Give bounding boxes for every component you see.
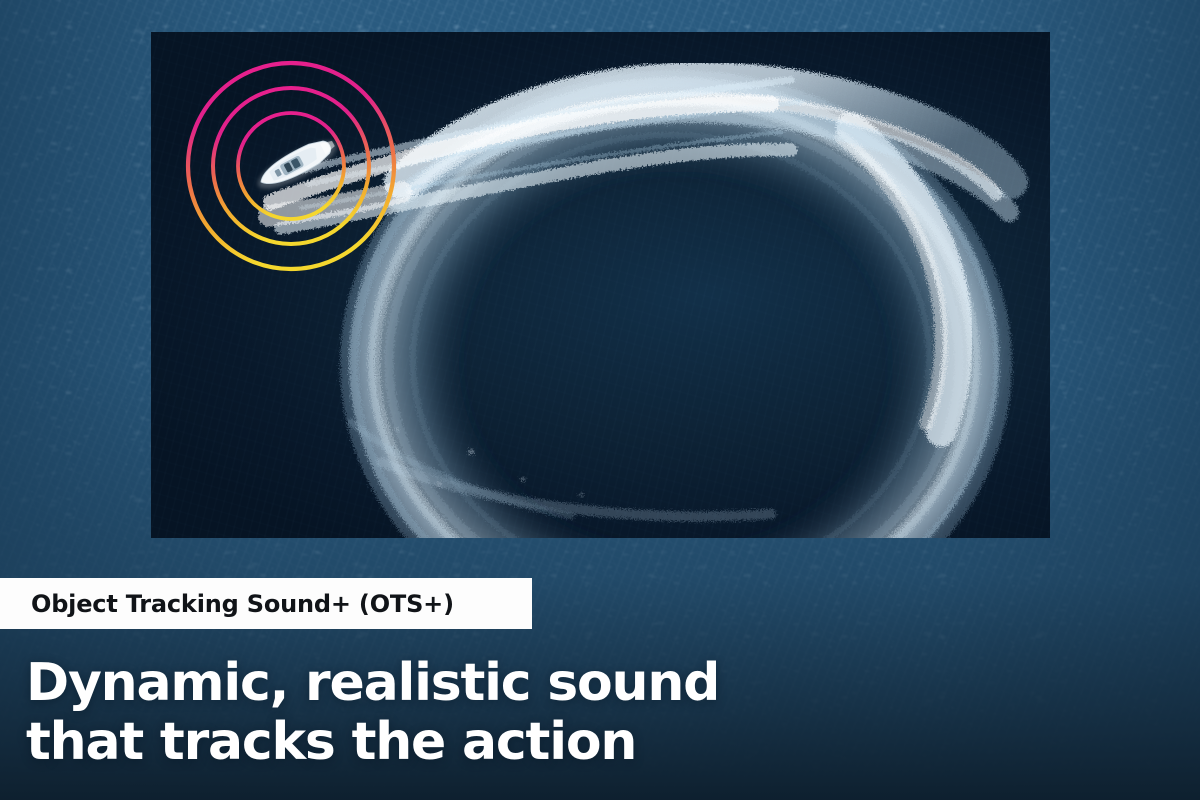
status-badge: Object Tracking Sound+ (OTS+) — [0, 578, 532, 629]
page-title: Dynamic, realistic sound that tracks the… — [26, 654, 1026, 772]
headline-line-2: that tracks the action — [26, 713, 1026, 772]
badge-label: Object Tracking Sound+ (OTS+) — [31, 590, 454, 618]
banner-stage: Object Tracking Sound+ (OTS+) Dynamic, r… — [0, 0, 1200, 800]
boat-photo — [151, 32, 1050, 538]
photo-artwork — [151, 32, 1050, 538]
headline-line-1: Dynamic, realistic sound — [26, 654, 1026, 713]
